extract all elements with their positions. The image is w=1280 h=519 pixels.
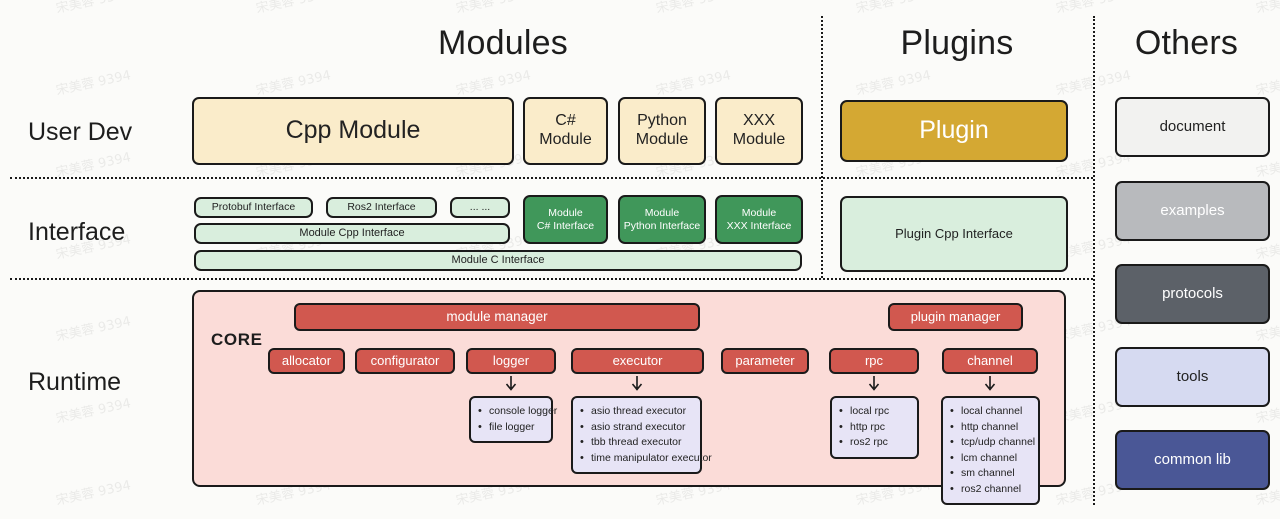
watermark: 宋美蓉 9394 — [54, 0, 133, 17]
watermark: 宋美蓉 9394 — [654, 64, 733, 98]
arrow-logger-down — [504, 376, 518, 394]
list-item: ros2 channel — [950, 482, 1030, 498]
user-plugin[interactable]: Plugin — [840, 100, 1068, 162]
watermark: 宋美蓉 9394 — [854, 64, 933, 98]
core-component-rpc[interactable]: rpc — [829, 348, 919, 374]
list-item: local channel — [950, 404, 1030, 420]
watermark: 宋美蓉 9394 — [1254, 64, 1280, 98]
others-document[interactable]: document — [1115, 97, 1270, 157]
arrow-rpc-down — [867, 376, 881, 394]
core-component-configurator[interactable]: configurator — [355, 348, 455, 374]
interface-module-python[interactable]: Module Python Interface — [618, 195, 706, 244]
row-label-interface: Interface — [28, 218, 125, 247]
column-heading-plugins: Plugins — [821, 24, 1093, 63]
list-item: asio thread executor — [580, 404, 692, 420]
watermark: 宋美蓉 9394 — [1254, 0, 1280, 17]
watermark: 宋美蓉 9394 — [454, 0, 533, 17]
watermark: 宋美蓉 9394 — [1054, 0, 1133, 17]
channel-children-list: local channelhttp channeltcp/udp channel… — [950, 404, 1030, 497]
core-label: CORE — [211, 330, 263, 350]
user-module-xxx[interactable]: XXX Module — [715, 97, 803, 165]
list-item: file logger — [478, 420, 543, 436]
divider-plugins-others — [1093, 16, 1095, 505]
interface-protobuf[interactable]: Protobuf Interface — [194, 197, 313, 218]
core-channel-children: local channelhttp channeltcp/udp channel… — [941, 396, 1040, 505]
others-protocols[interactable]: protocols — [1115, 264, 1270, 324]
interface-plugin-cpp[interactable]: Plugin Cpp Interface — [840, 196, 1068, 272]
column-heading-modules: Modules — [185, 24, 821, 63]
watermark: 宋美蓉 9394 — [254, 64, 333, 98]
watermark: 宋美蓉 9394 — [454, 64, 533, 98]
row-label-runtime: Runtime — [28, 368, 121, 397]
core-component-parameter[interactable]: parameter — [721, 348, 809, 374]
interface-module-cpp[interactable]: Module Cpp Interface — [194, 223, 510, 244]
list-item: tcp/udp channel — [950, 435, 1030, 451]
list-item: lcm channel — [950, 451, 1030, 467]
list-item: asio strand executor — [580, 420, 692, 436]
logger-children-list: console loggerfile logger — [478, 404, 543, 435]
list-item: http channel — [950, 420, 1030, 436]
interface-ros2[interactable]: Ros2 Interface — [326, 197, 437, 218]
watermark: 宋美蓉 9394 — [54, 310, 133, 344]
core-component-allocator[interactable]: allocator — [268, 348, 345, 374]
list-item: console logger — [478, 404, 543, 420]
row-label-user-dev: User Dev — [28, 118, 132, 147]
interface-more[interactable]: ... ... — [450, 197, 510, 218]
list-item: http rpc — [839, 420, 909, 436]
others-common-lib[interactable]: common lib — [1115, 430, 1270, 490]
core-module-manager[interactable]: module manager — [294, 303, 700, 331]
core-component-executor[interactable]: executor — [571, 348, 704, 374]
arrow-executor-down — [630, 376, 644, 394]
interface-module-xxx[interactable]: Module XXX Interface — [715, 195, 803, 244]
core-component-logger[interactable]: logger — [466, 348, 556, 374]
others-tools[interactable]: tools — [1115, 347, 1270, 407]
user-module-csharp[interactable]: C# Module — [523, 97, 608, 165]
list-item: local rpc — [839, 404, 909, 420]
list-item: tbb thread executor — [580, 435, 692, 451]
executor-children-list: asio thread executorasio strand executor… — [580, 404, 692, 466]
arrow-channel-down — [983, 376, 997, 394]
rpc-children-list: local rpchttp rpcros2 rpc — [839, 404, 909, 451]
user-module-cpp[interactable]: Cpp Module — [192, 97, 514, 165]
divider-userdev-interface — [10, 177, 1093, 179]
watermark: 宋美蓉 9394 — [254, 0, 333, 17]
list-item: time manipulator executor — [580, 451, 692, 467]
core-logger-children: console loggerfile logger — [469, 396, 553, 443]
watermark: 宋美蓉 9394 — [54, 64, 133, 98]
list-item: ros2 rpc — [839, 435, 909, 451]
watermark: 宋美蓉 9394 — [654, 0, 733, 17]
interface-module-csharp[interactable]: Module C# Interface — [523, 195, 608, 244]
watermark: 宋美蓉 9394 — [54, 474, 133, 508]
watermark: 宋美蓉 9394 — [54, 392, 133, 426]
interface-module-c[interactable]: Module C Interface — [194, 250, 802, 271]
core-executor-children: asio thread executorasio strand executor… — [571, 396, 702, 474]
core-plugin-manager[interactable]: plugin manager — [888, 303, 1023, 331]
core-component-channel[interactable]: channel — [942, 348, 1038, 374]
architecture-diagram: 宋美蓉 9394宋美蓉 9394宋美蓉 9394宋美蓉 9394宋美蓉 9394… — [0, 0, 1280, 519]
column-heading-others: Others — [1093, 24, 1280, 63]
divider-interface-runtime — [10, 278, 1093, 280]
user-module-python[interactable]: Python Module — [618, 97, 706, 165]
watermark: 宋美蓉 9394 — [54, 146, 133, 180]
watermark: 宋美蓉 9394 — [854, 0, 933, 17]
list-item: sm channel — [950, 466, 1030, 482]
others-examples[interactable]: examples — [1115, 181, 1270, 241]
core-rpc-children: local rpchttp rpcros2 rpc — [830, 396, 919, 459]
